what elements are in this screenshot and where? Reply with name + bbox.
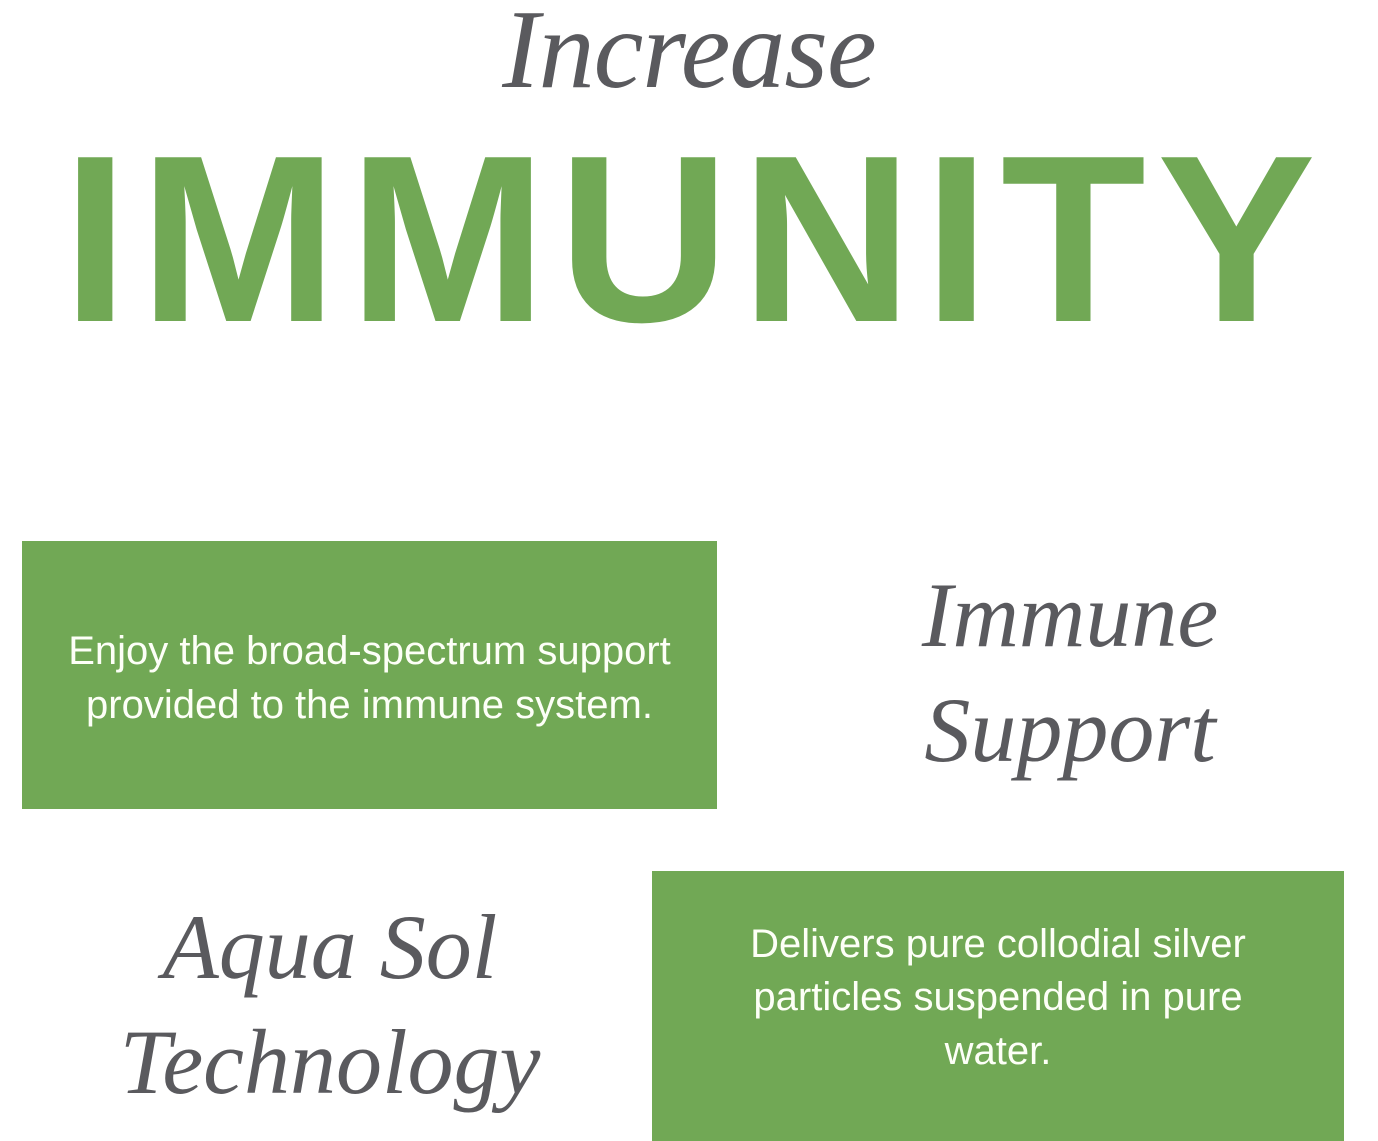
benefit-box-line: Delivers pure collodial silver [674, 918, 1322, 972]
benefit-caption-immune-support: Immune Support [790, 558, 1350, 788]
benefit-caption-line: Immune [790, 558, 1350, 673]
benefit-box-aqua-sol-technology-text: Delivers pure collodial silver particles… [652, 918, 1344, 1079]
benefit-box-line: provided to the immune system. [30, 679, 709, 733]
benefit-box-immune-support: Enjoy the broad-spectrum support provide… [22, 541, 717, 809]
benefit-box-line: Enjoy the broad-spectrum support [30, 625, 709, 679]
benefit-caption-line: Technology [40, 1005, 620, 1120]
infographic-canvas: Increase IMMUNITY Enjoy the broad-spectr… [0, 0, 1378, 1141]
benefit-caption-line: Support [790, 673, 1350, 788]
benefit-caption-line: Aqua Sol [40, 890, 620, 1005]
headline-script-text: Increase [0, 0, 1378, 115]
benefit-caption-aqua-sol-technology: Aqua Sol Technology [40, 890, 620, 1120]
benefit-box-line: particles suspended in pure [674, 971, 1322, 1025]
headline-main-text: IMMUNITY [0, 121, 1378, 359]
benefit-box-line: water. [674, 1025, 1322, 1079]
benefit-box-aqua-sol-technology: Delivers pure collodial silver particles… [652, 871, 1344, 1141]
benefit-box-immune-support-text: Enjoy the broad-spectrum support provide… [22, 625, 717, 732]
